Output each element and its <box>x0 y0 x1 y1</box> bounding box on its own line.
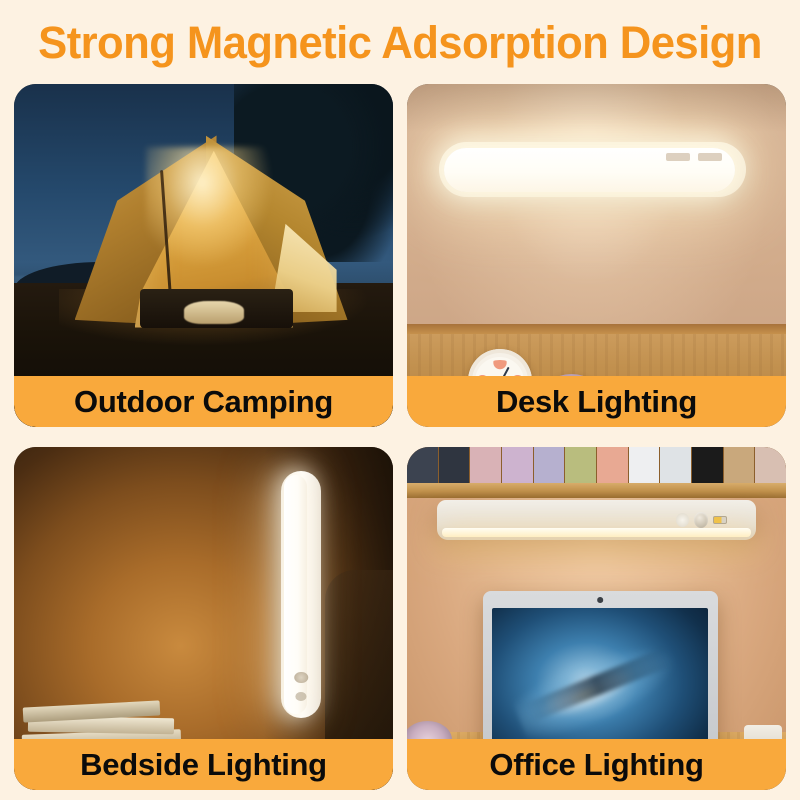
desk-edge <box>407 324 786 334</box>
power-icon[interactable] <box>676 513 689 527</box>
caption-office-lighting: Office Lighting <box>407 739 786 790</box>
shelf-book <box>692 447 723 483</box>
webcam <box>597 597 603 603</box>
shelf-book <box>407 447 438 483</box>
feature-card-office-lighting[interactable]: Office Lighting <box>407 447 786 790</box>
page-title: Strong Magnetic Adsorption Design <box>12 14 788 72</box>
dimmer-knob[interactable] <box>694 512 708 529</box>
shelf-book <box>565 447 596 483</box>
shelf-book <box>755 447 786 483</box>
led-bar-horizontal <box>439 142 746 197</box>
led-bar-under-shelf <box>437 500 755 539</box>
led-control-panel[interactable] <box>670 510 734 529</box>
caption-bedside-lighting: Bedside Lighting <box>14 739 393 790</box>
feature-card-outdoor-camping[interactable]: Outdoor Camping <box>14 84 393 427</box>
caption-desk-lighting: Desk Lighting <box>407 376 786 427</box>
feature-card-desk-lighting[interactable]: Desk Lighting <box>407 84 786 427</box>
feature-card-bedside-lighting[interactable]: Bedside Lighting <box>14 447 393 790</box>
sleeping-bag <box>184 301 244 324</box>
motion-sensor <box>294 672 308 683</box>
shelf-book <box>534 447 565 483</box>
shelf-book <box>724 447 755 483</box>
battery-indicator-icon <box>713 516 727 524</box>
led-bar-vertical <box>281 471 321 718</box>
camping-tent <box>75 135 348 327</box>
shelf-book-row <box>407 447 786 483</box>
shelf-book <box>629 447 660 483</box>
shelf-book <box>660 447 691 483</box>
ceiling-shadow <box>407 84 786 132</box>
shelf-book <box>502 447 533 483</box>
shelf-book <box>439 447 470 483</box>
feature-card-grid: Outdoor Camping <box>14 84 786 790</box>
shelf-book <box>470 447 501 483</box>
caption-outdoor-camping: Outdoor Camping <box>14 376 393 427</box>
led-control-marks <box>666 151 721 163</box>
infographic-page: Strong Magnetic Adsorption Design <box>0 0 800 800</box>
shelf-board <box>407 483 786 498</box>
shelf-book <box>597 447 628 483</box>
